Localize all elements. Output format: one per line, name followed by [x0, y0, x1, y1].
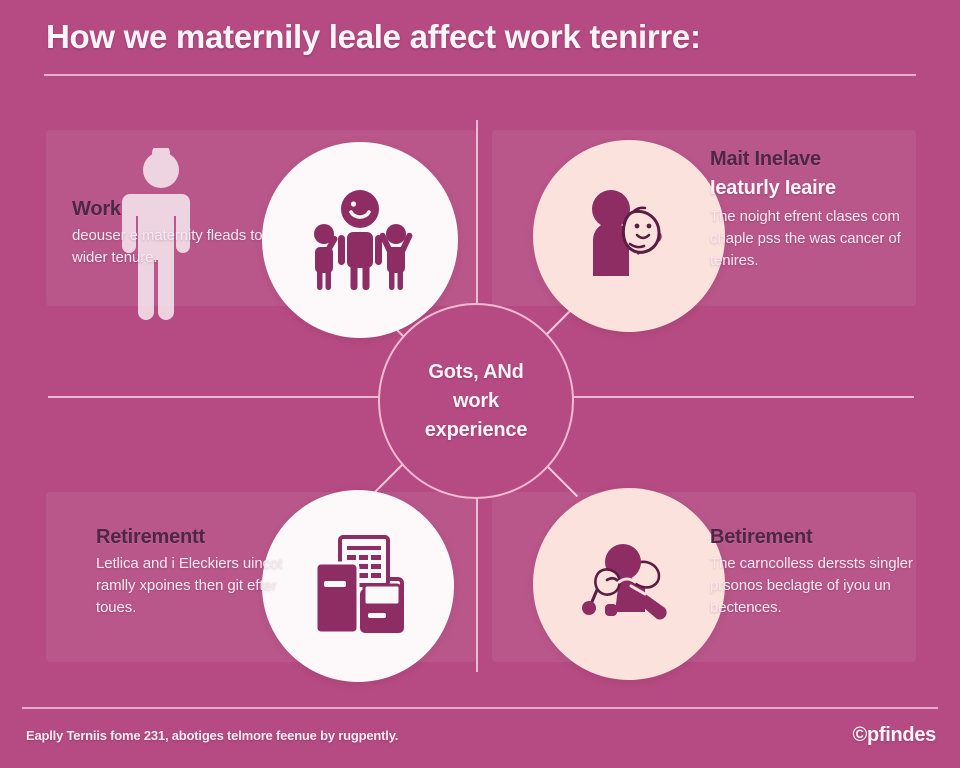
quadrant-body-bottom-right: The carncolless derssts singler prsonos … [710, 553, 915, 619]
quadrant-heading-top-left: Work [72, 196, 277, 223]
circle-top-right[interactable] [533, 140, 725, 332]
hub-line-1: Gots, ANd [425, 358, 528, 387]
quadrant-body-bottom-left: Letlica and i Eleckiers uincot ramlly xp… [96, 553, 296, 619]
quadrant-heading-top-right: Mait Inelave [710, 146, 915, 173]
center-hub[interactable]: Gots, ANd work experience [378, 303, 574, 499]
center-hub-label: Gots, ANd work experience [425, 358, 528, 445]
infographic-canvas: How we maternily leale affect work tenir… [0, 0, 960, 768]
footer-note: Eaplly Terniis fome 231, abotiges telmor… [26, 728, 398, 743]
title-divider [44, 74, 916, 76]
page-title: How we maternily leale affect work tenir… [46, 16, 916, 58]
footer-brand: ©pfindes [853, 724, 936, 747]
quadrant-heading-bottom-left: Retirementt [96, 524, 296, 551]
family-icon [304, 188, 416, 292]
hub-line-3: experience [425, 416, 528, 445]
circle-bottom-right[interactable] [533, 488, 725, 680]
quadrant-heading-bottom-right: Betirement [710, 524, 915, 551]
quadrant-text-bottom-left: Retirementt Letlica and i Eleckiers uinc… [96, 524, 296, 619]
figure-tools-icon [575, 532, 683, 636]
hub-line-2: work [425, 387, 528, 416]
circle-top-left[interactable] [262, 142, 458, 338]
quadrant-text-top-right: Mait Inelave Ieaturly Ieaire The noight … [710, 146, 915, 272]
documents-folders-icon [302, 533, 414, 639]
quadrant-subheading-top-right: Ieaturly Ieaire [710, 175, 915, 202]
footer-divider [22, 707, 938, 709]
quadrant-text-bottom-right: Betirement The carncolless derssts singl… [710, 524, 915, 619]
quadrant-body-top-left: deouser e maternity fleads to wider tenu… [72, 225, 277, 269]
parent-baby-icon [575, 182, 683, 290]
quadrant-text-top-left: Work deouser e maternity fleads to wider… [72, 196, 277, 269]
quadrant-body-top-right: The noight efrent clases com chaple pss … [710, 206, 915, 272]
